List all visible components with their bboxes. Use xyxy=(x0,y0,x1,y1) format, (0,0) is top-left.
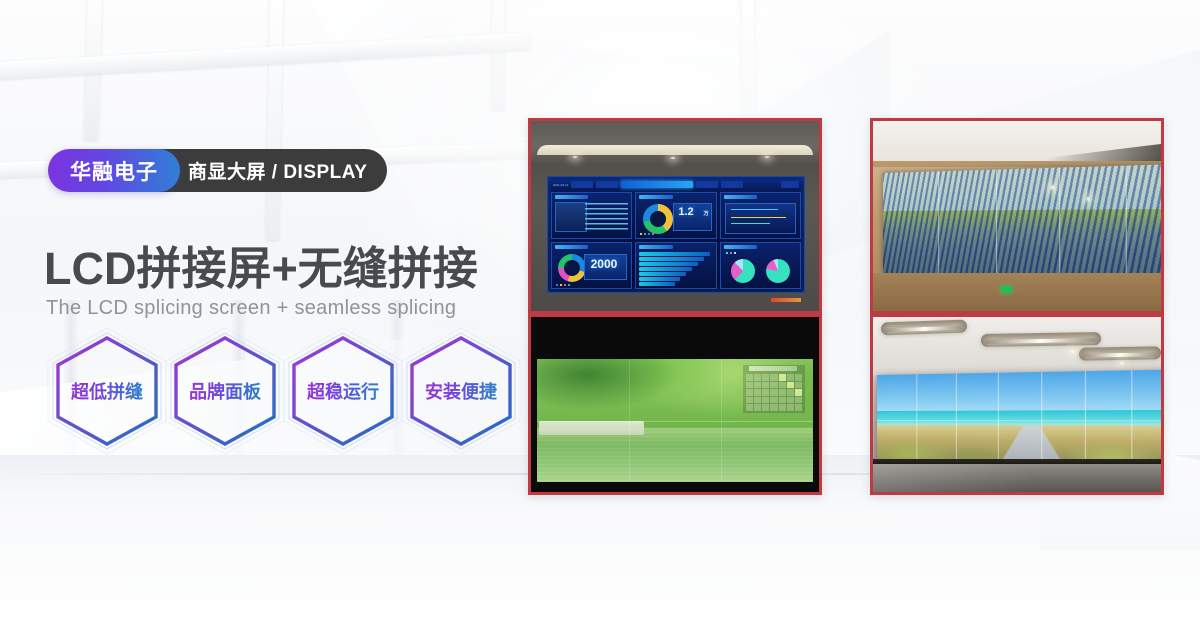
category-pill: 商显大屏 / DISPLAY xyxy=(156,149,387,192)
feature-badge: 安装便捷 xyxy=(402,332,520,450)
promo-banner: 华融电子 商显大屏 / DISPLAY LCD拼接屏+无缝拼接 The LCD … xyxy=(0,0,1200,640)
product-photo-solar-wall xyxy=(870,118,1164,314)
page-title: LCD拼接屏+无缝拼接 xyxy=(44,232,478,297)
feature-badge: 超稳运行 xyxy=(284,332,402,450)
calendar-overlay xyxy=(743,365,805,413)
video-wall-screen xyxy=(537,359,813,482)
video-wall-dashboard: 2021-09-13 xyxy=(547,176,805,293)
brand-name-pill: 华融电子 xyxy=(48,149,180,192)
video-wall-screen xyxy=(883,163,1161,282)
video-wall-screen xyxy=(877,369,1161,470)
feature-badge-label: 品牌面板 xyxy=(189,378,261,404)
feature-badge-list: 超低拼缝 品牌面板 xyxy=(48,332,520,450)
product-photo-beach-wall xyxy=(870,314,1164,495)
page-subtitle: The LCD splicing screen + seamless splic… xyxy=(46,297,456,320)
feature-badge: 超低拼缝 xyxy=(48,332,166,450)
feature-badge-label: 超稳运行 xyxy=(307,378,379,404)
product-photo-lake-wall xyxy=(528,314,822,495)
brand-bar: 华融电子 商显大屏 / DISPLAY xyxy=(48,149,387,192)
feature-badge-label: 超低拼缝 xyxy=(71,378,143,404)
feature-badge: 品牌面板 xyxy=(166,332,284,450)
feature-badge-label: 安装便捷 xyxy=(425,378,497,404)
product-photo-control-room: 2021-09-13 xyxy=(528,118,822,314)
